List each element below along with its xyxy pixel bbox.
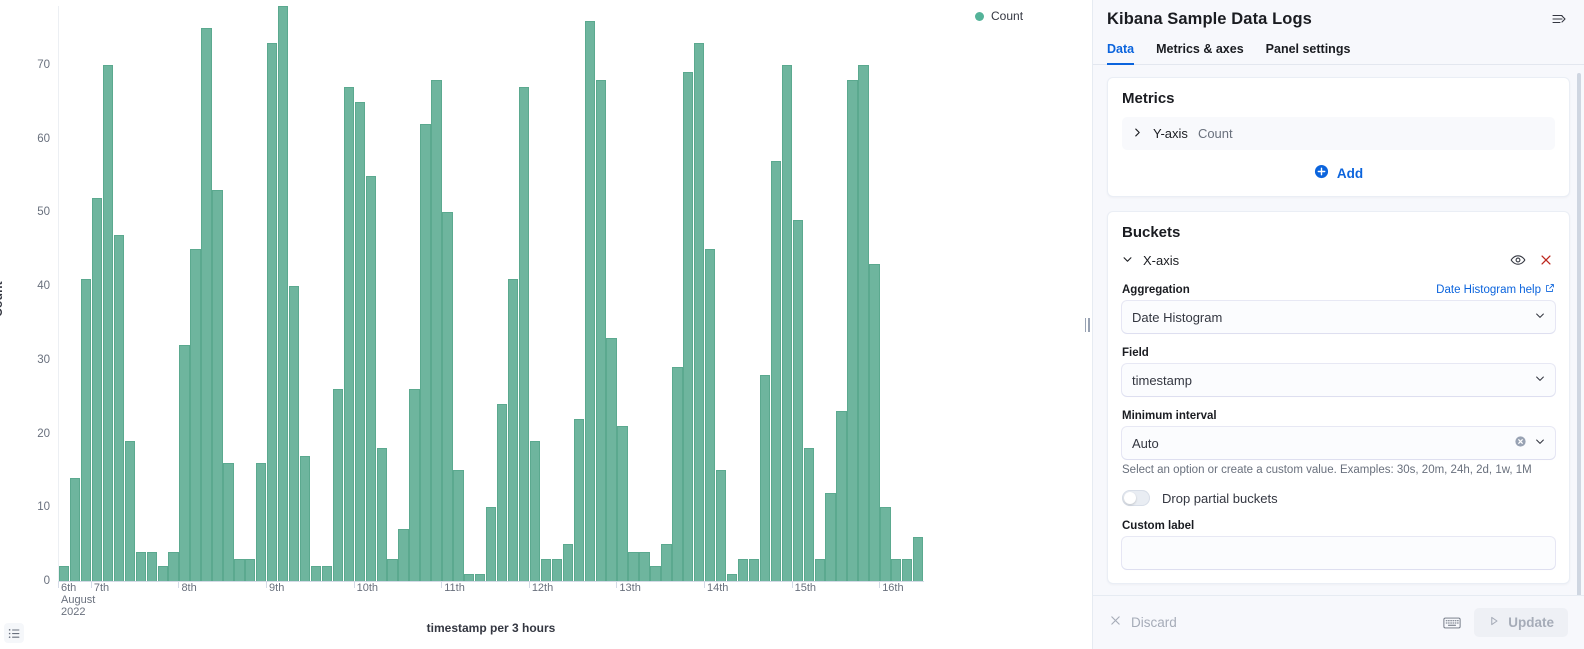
buckets-heading: Buckets xyxy=(1122,224,1555,241)
bar[interactable] xyxy=(508,279,518,581)
aggregation-select[interactable]: Date Histogram xyxy=(1122,301,1555,333)
tick-mark xyxy=(529,581,530,588)
bar[interactable] xyxy=(639,552,649,581)
bar[interactable] xyxy=(420,124,430,581)
bar[interactable] xyxy=(464,574,474,581)
field-label: Field xyxy=(1122,347,1149,359)
metrics-heading: Metrics xyxy=(1122,90,1555,107)
bar[interactable] xyxy=(782,65,792,581)
bar[interactable] xyxy=(793,220,803,581)
bar[interactable] xyxy=(223,463,233,581)
bar[interactable] xyxy=(749,559,759,581)
chevron-down-icon xyxy=(1534,436,1546,451)
bar[interactable] xyxy=(136,552,146,581)
bar[interactable] xyxy=(311,566,321,581)
plus-circle-icon xyxy=(1314,164,1329,182)
bar[interactable] xyxy=(333,389,343,581)
help-link-text: Date Histogram help xyxy=(1436,284,1541,296)
bar[interactable] xyxy=(815,559,825,581)
bar[interactable] xyxy=(771,161,781,581)
bar[interactable] xyxy=(683,72,693,581)
x-tick-label: 11th xyxy=(444,582,465,594)
chart-pane: Count Count 010203040506070 6thAugust202… xyxy=(0,0,1092,649)
bar[interactable] xyxy=(168,552,178,581)
custom-label-label: Custom label xyxy=(1122,520,1194,532)
remove-bucket-icon[interactable] xyxy=(1537,251,1555,269)
metrics-card: Metrics Y-axis Count Add xyxy=(1107,77,1570,197)
bar[interactable] xyxy=(541,559,551,581)
add-metric-button[interactable]: Add xyxy=(1122,164,1555,182)
bar[interactable] xyxy=(59,566,69,581)
bar[interactable] xyxy=(431,80,441,581)
panel-resize-handle[interactable] xyxy=(1082,0,1092,649)
bar[interactable] xyxy=(869,264,879,581)
bar[interactable] xyxy=(70,478,80,581)
minimum-interval-value: Auto xyxy=(1132,436,1159,451)
bar[interactable] xyxy=(574,419,584,581)
bar[interactable] xyxy=(147,552,157,581)
x-tick-label: 9th xyxy=(269,582,284,594)
tick-mark xyxy=(354,581,355,588)
update-button[interactable]: Update xyxy=(1474,608,1568,637)
tick-mark xyxy=(178,581,179,588)
tick-mark xyxy=(441,581,442,588)
list-icon[interactable] xyxy=(4,623,24,643)
x-axis-title: timestamp per 3 hours xyxy=(58,621,924,635)
bar[interactable] xyxy=(552,559,562,581)
bar[interactable] xyxy=(278,6,288,581)
tab-metrics-axes[interactable]: Metrics & axes xyxy=(1156,42,1244,65)
editor-side-panel: Kibana Sample Data Logs Data Metrics & a… xyxy=(1092,0,1584,649)
play-icon xyxy=(1488,615,1500,630)
bar[interactable] xyxy=(497,404,507,581)
y-tick-label: 60 xyxy=(37,133,50,145)
field-value: timestamp xyxy=(1132,373,1192,388)
bucket-row-x-axis[interactable]: X-axis xyxy=(1122,251,1555,269)
tab-data[interactable]: Data xyxy=(1107,42,1134,65)
close-x-icon xyxy=(1109,614,1122,632)
bar[interactable] xyxy=(836,411,846,581)
panel-tabs: Data Metrics & axes Panel settings xyxy=(1107,42,1570,65)
legend-color-dot xyxy=(975,12,984,21)
bar[interactable] xyxy=(103,65,113,581)
minimum-interval-label: Minimum interval xyxy=(1122,410,1217,422)
date-histogram-help-link[interactable]: Date Histogram help xyxy=(1436,283,1555,296)
bar[interactable] xyxy=(606,338,616,581)
y-tick-label: 50 xyxy=(37,206,50,218)
bar[interactable] xyxy=(377,448,387,581)
field-select[interactable]: timestamp xyxy=(1122,364,1555,396)
chevron-down-icon xyxy=(1534,373,1546,388)
plot-area: Count 010203040506070 6thAugust20227th8t… xyxy=(0,0,960,600)
bar[interactable] xyxy=(234,559,244,581)
bar[interactable] xyxy=(300,456,310,581)
bar[interactable] xyxy=(650,566,660,581)
add-metric-label: Add xyxy=(1337,166,1363,181)
x-tick-label: 7th xyxy=(94,582,109,594)
bar[interactable] xyxy=(902,559,912,581)
chevron-down-icon xyxy=(1122,253,1133,268)
legend-label: Count xyxy=(991,9,1023,23)
metric-row-y-axis[interactable]: Y-axis Count xyxy=(1122,117,1555,150)
bar[interactable] xyxy=(190,249,200,581)
bar[interactable] xyxy=(804,448,814,581)
drop-partial-buckets-toggle[interactable]: Drop partial buckets xyxy=(1122,490,1555,506)
x-tick-label: 8th xyxy=(181,582,196,594)
panel-body: Metrics Y-axis Count Add Buckets xyxy=(1093,65,1584,595)
bar[interactable] xyxy=(661,544,671,581)
tab-panel-settings[interactable]: Panel settings xyxy=(1266,42,1351,65)
x-tick-label: 14th xyxy=(707,582,728,594)
toggle-switch[interactable] xyxy=(1122,490,1150,506)
bar[interactable] xyxy=(366,176,376,581)
aggregation-label: Aggregation xyxy=(1122,284,1190,296)
metric-row-value: Count xyxy=(1198,126,1233,141)
bar[interactable] xyxy=(92,198,102,581)
tick-mark xyxy=(616,581,617,588)
y-axis-ticks: 010203040506070 xyxy=(0,0,58,600)
bar[interactable] xyxy=(409,389,419,581)
custom-label-input[interactable] xyxy=(1122,537,1555,569)
bar[interactable] xyxy=(475,574,485,581)
x-tick-label: 13th xyxy=(619,582,640,594)
bar[interactable] xyxy=(125,441,135,581)
tick-mark xyxy=(91,581,92,588)
bar[interactable] xyxy=(672,367,682,581)
discard-label: Discard xyxy=(1131,615,1177,630)
bar[interactable] xyxy=(563,544,573,581)
bar[interactable] xyxy=(617,426,627,581)
bar[interactable] xyxy=(212,190,222,581)
tick-mark xyxy=(58,581,59,588)
chevron-right-icon xyxy=(1132,126,1143,141)
bar-series[interactable] xyxy=(59,6,924,581)
bar[interactable] xyxy=(453,470,463,581)
bar[interactable] xyxy=(289,286,299,581)
discard-button[interactable]: Discard xyxy=(1109,614,1177,632)
y-tick-label: 40 xyxy=(37,280,50,292)
y-tick-label: 20 xyxy=(37,428,50,440)
drop-partial-buckets-label: Drop partial buckets xyxy=(1162,491,1278,506)
keyboard-icon[interactable] xyxy=(1440,611,1464,635)
grip-icon xyxy=(1085,318,1090,332)
panel-scrollbar[interactable] xyxy=(1577,73,1581,595)
eye-icon[interactable] xyxy=(1509,251,1527,269)
bar[interactable] xyxy=(694,43,704,581)
bar[interactable] xyxy=(858,65,868,581)
collapse-panel-icon[interactable] xyxy=(1548,8,1570,30)
bar[interactable] xyxy=(442,212,452,581)
aggregation-value: Date Histogram xyxy=(1132,310,1222,325)
y-tick-label: 70 xyxy=(37,59,50,71)
bar[interactable] xyxy=(355,102,365,581)
tick-mark xyxy=(704,581,705,588)
buckets-card: Buckets X-axis xyxy=(1107,211,1570,584)
bar[interactable] xyxy=(705,249,715,581)
bar[interactable] xyxy=(530,441,540,581)
bar[interactable] xyxy=(114,235,124,581)
bar[interactable] xyxy=(596,80,606,581)
bar[interactable] xyxy=(760,375,770,581)
bar[interactable] xyxy=(628,552,638,581)
minimum-interval-select[interactable]: Auto xyxy=(1122,427,1555,459)
bar[interactable] xyxy=(716,470,726,581)
x-tick-label: 10th xyxy=(357,582,378,594)
y-tick-label: 30 xyxy=(37,354,50,366)
kibana-visualize-editor: Count Count 010203040506070 6thAugust202… xyxy=(0,0,1584,649)
bar[interactable] xyxy=(387,559,397,581)
bar[interactable] xyxy=(158,566,168,581)
y-tick-label: 0 xyxy=(44,575,50,587)
bar[interactable] xyxy=(847,80,857,581)
panel-footer: Discard Update xyxy=(1093,595,1584,649)
x-tick-label: 15th xyxy=(795,582,816,594)
bucket-row-label: X-axis xyxy=(1143,253,1179,268)
bar[interactable] xyxy=(81,279,91,581)
minimum-interval-hint: Select an option or create a custom valu… xyxy=(1122,463,1555,478)
clear-icon[interactable] xyxy=(1514,435,1527,451)
bar[interactable] xyxy=(245,559,255,581)
y-tick-label: 10 xyxy=(37,501,50,513)
bar[interactable] xyxy=(267,43,277,581)
bar[interactable] xyxy=(738,559,748,581)
bar[interactable] xyxy=(344,87,354,581)
bar[interactable] xyxy=(322,566,332,581)
bar[interactable] xyxy=(825,493,835,581)
chart-legend[interactable]: Count xyxy=(975,9,1023,23)
update-label: Update xyxy=(1508,615,1554,630)
bar[interactable] xyxy=(256,463,266,581)
bar[interactable] xyxy=(179,345,189,581)
panel-header: Kibana Sample Data Logs Data Metrics & a… xyxy=(1093,0,1584,65)
bar[interactable] xyxy=(913,537,923,581)
x-tick-label: 12th xyxy=(532,582,553,594)
bar[interactable] xyxy=(519,87,529,581)
bar[interactable] xyxy=(880,507,890,581)
tick-mark xyxy=(266,581,267,588)
bar[interactable] xyxy=(398,529,408,581)
tick-mark xyxy=(792,581,793,588)
external-link-icon xyxy=(1545,283,1555,296)
bar[interactable] xyxy=(585,21,595,581)
x-tick-label: 16th xyxy=(882,582,903,594)
metric-row-label: Y-axis xyxy=(1153,126,1188,141)
bar[interactable] xyxy=(727,574,737,581)
tick-mark xyxy=(879,581,880,588)
page-title: Kibana Sample Data Logs xyxy=(1107,10,1312,29)
bar[interactable] xyxy=(201,28,211,581)
bar[interactable] xyxy=(891,559,901,581)
bar[interactable] xyxy=(486,507,496,581)
chevron-down-icon xyxy=(1534,310,1546,325)
